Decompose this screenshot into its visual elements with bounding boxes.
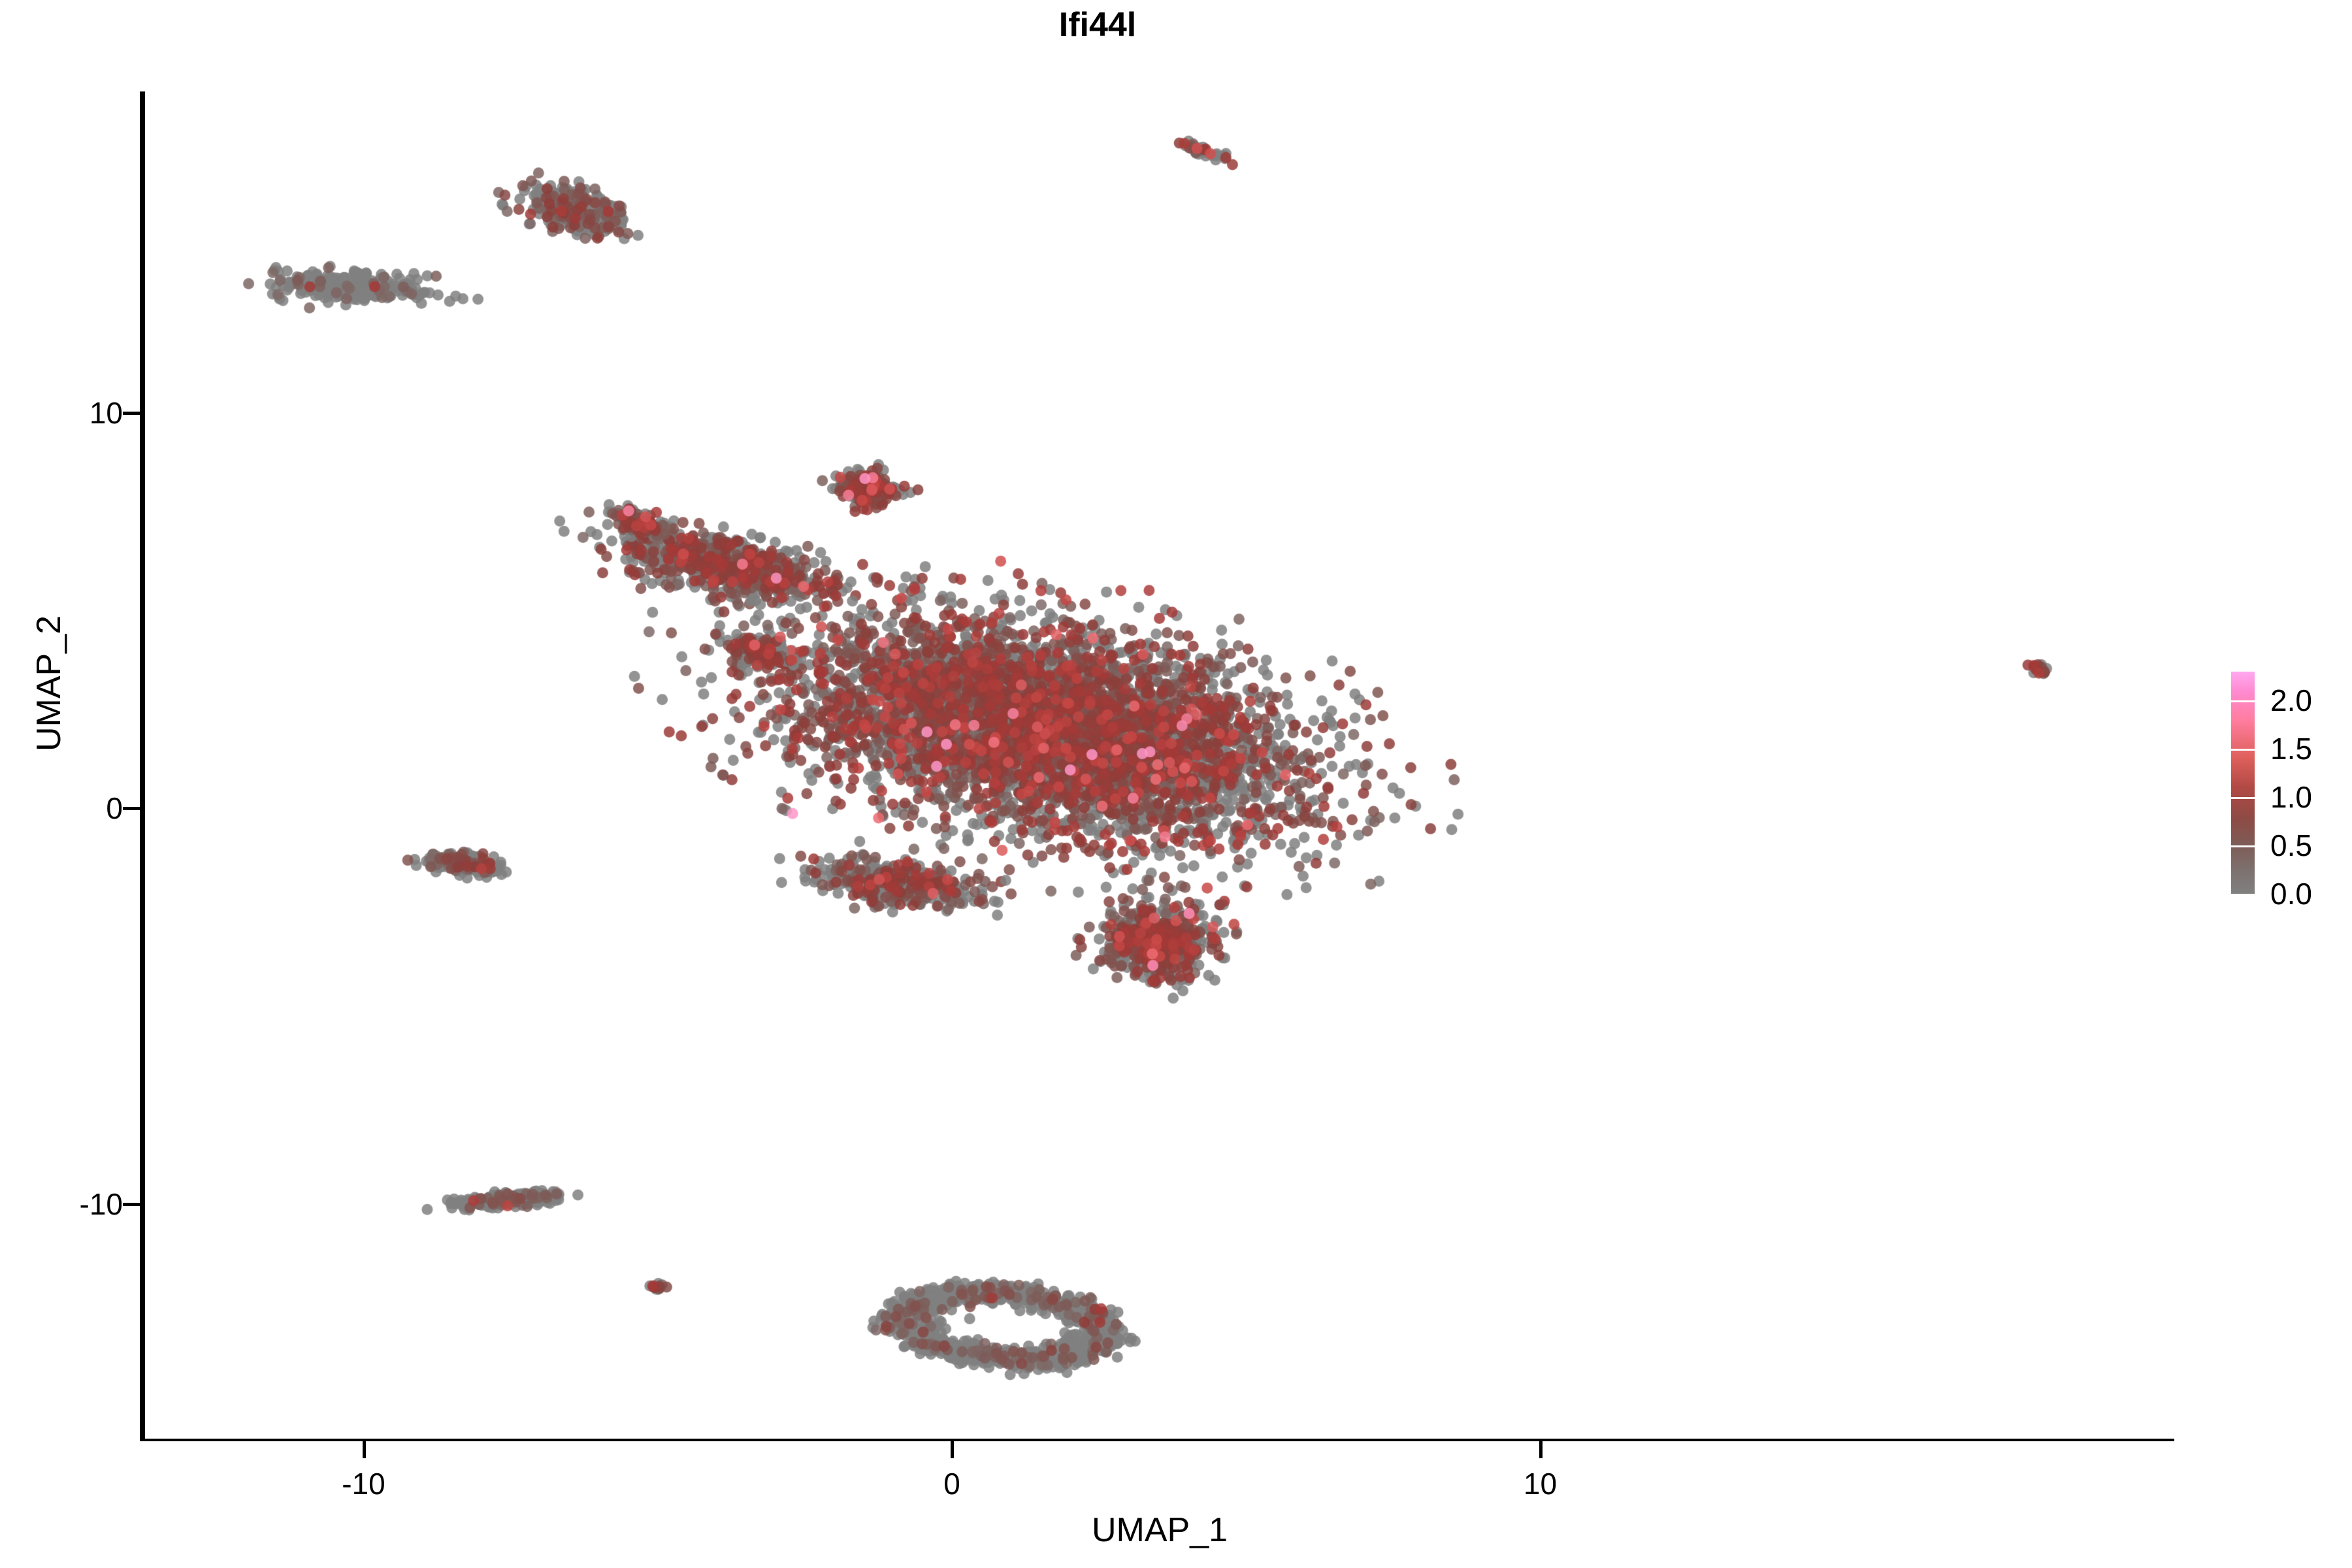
- colorbar-tick: [2231, 700, 2255, 702]
- x-axis-title: UMAP_1: [145, 1511, 2174, 1550]
- y-ticklabel: 0: [106, 791, 123, 826]
- color-legend: 0.00.51.01.52.0: [2231, 668, 2345, 903]
- colorbar-label: 1.0: [2270, 779, 2312, 815]
- y-ticklabel: -10: [80, 1186, 123, 1222]
- y-tick-0: [123, 807, 140, 810]
- colorbar-tick: [2231, 749, 2255, 751]
- colorbar-gradient: [2231, 672, 2255, 894]
- colorbar-tick: [2231, 894, 2255, 896]
- y-tick--10: [123, 1203, 140, 1206]
- colorbar-tick: [2231, 797, 2255, 799]
- y-axis-title: UMAP_2: [29, 621, 69, 751]
- page-title: Ifi44l: [0, 5, 2195, 44]
- colorbar-label: 0.0: [2270, 876, 2312, 911]
- colorbar-label: 0.5: [2270, 828, 2312, 863]
- y-tick-10: [123, 412, 140, 415]
- x-tick-0: [951, 1441, 954, 1458]
- y-ticklabel: 10: [90, 395, 123, 431]
- x-tick-10: [1539, 1441, 1543, 1458]
- x-tick--10: [363, 1441, 366, 1458]
- plot-panel: [145, 91, 2174, 1439]
- colorbar-label: 2.0: [2270, 683, 2312, 718]
- umap-feature-plot: Ifi44l -10010 -10010 UMAP_1 UMAP_2 0.00.…: [0, 0, 2352, 1568]
- scatter-points-layer: [145, 91, 2174, 1439]
- x-ticklabel: -10: [342, 1466, 385, 1501]
- colorbar-label: 1.5: [2270, 731, 2312, 766]
- x-ticklabel: 10: [1524, 1466, 1557, 1501]
- x-ticklabel: 0: [943, 1466, 960, 1501]
- colorbar-tick: [2231, 845, 2255, 847]
